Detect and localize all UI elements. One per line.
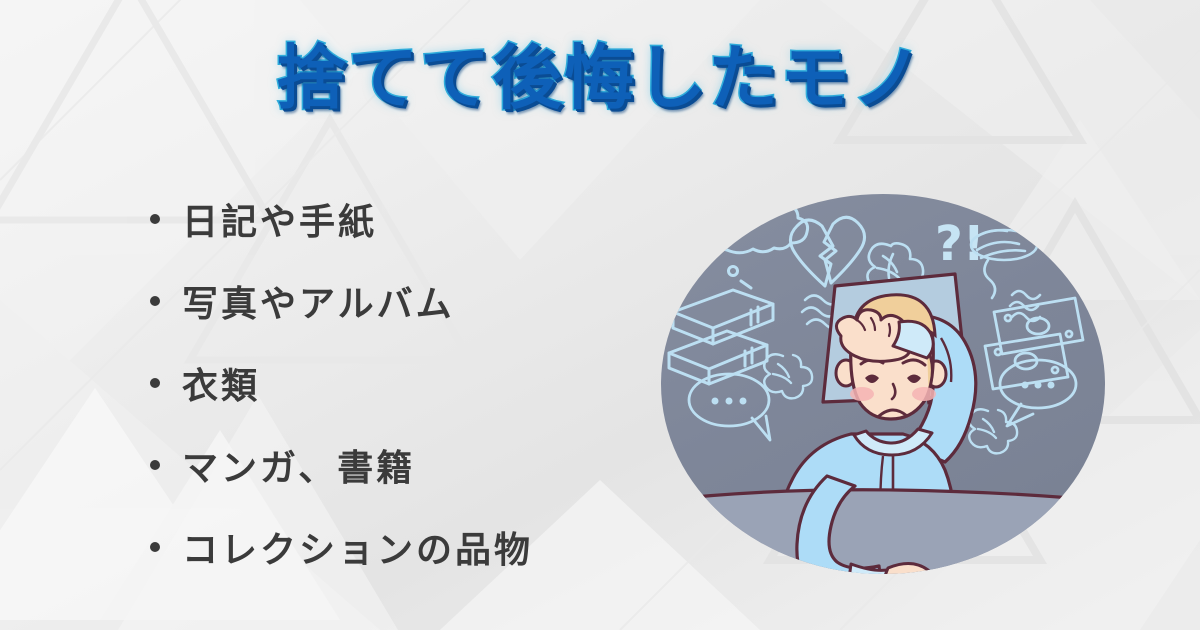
list-item: 衣類 — [150, 342, 670, 424]
slide-canvas: 捨てて後悔したモノ 日記や手紙 写真やアルバム 衣類 マンガ、書籍 コレクション… — [0, 0, 1200, 630]
list-item: コレクションの品物 — [150, 506, 670, 588]
page-title: 捨てて後悔したモノ — [276, 22, 924, 123]
bullet-icon — [150, 460, 160, 470]
question-exclamation-icon: ?! — [935, 216, 985, 272]
list-item-label: マンガ、書籍 — [182, 439, 415, 491]
list-item-label: 衣類 — [182, 357, 260, 409]
question-exclamation-text: ?! — [935, 216, 985, 272]
list-item-label: 写真やアルバム — [182, 275, 455, 327]
bullet-icon — [150, 296, 160, 306]
bullet-icon — [150, 214, 160, 224]
list-item: 写真やアルバム — [150, 260, 670, 342]
illustration-worried-man-in-bed: ?! — [655, 188, 1115, 588]
bullet-icon — [150, 542, 160, 552]
regret-items-list: 日記や手紙 写真やアルバム 衣類 マンガ、書籍 コレクションの品物 — [150, 178, 670, 588]
list-item-label: 日記や手紙 — [182, 193, 377, 245]
bullet-icon — [150, 378, 160, 388]
page-title-container: 捨てて後悔したモノ — [0, 22, 1200, 123]
list-item: マンガ、書籍 — [150, 424, 670, 506]
list-item: 日記や手紙 — [150, 178, 670, 260]
list-item-label: コレクションの品物 — [182, 521, 533, 573]
